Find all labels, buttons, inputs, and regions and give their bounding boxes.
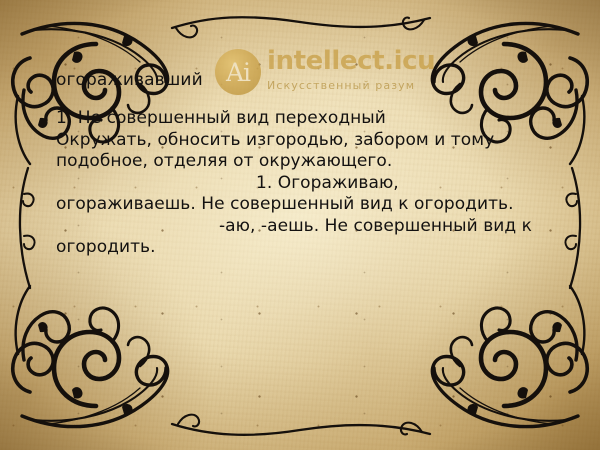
- definition-line: огородить.: [56, 237, 566, 259]
- definition-line: Окружать, обносить изгородью, забором и …: [56, 130, 566, 152]
- page-title: огораживавший: [56, 70, 203, 90]
- dictionary-card-page: огораживавший 1. Не совершенный вид пере…: [0, 0, 600, 450]
- dictionary-entry: огораживавший 1. Не совершенный вид пере…: [0, 0, 600, 450]
- definition-line: огораживаешь. Не совершенный вид к огоро…: [56, 194, 566, 216]
- definition-line: 1. Огораживаю,: [56, 173, 566, 195]
- definition-line: подобное, отделяя от окружающего.: [56, 151, 566, 173]
- definition-body: 1. Не совершенный вид переходный Окружат…: [56, 108, 566, 259]
- definition-line: -аю, -аешь. Не совершенный вид к: [56, 216, 566, 238]
- definition-line: 1. Не совершенный вид переходный: [56, 108, 566, 130]
